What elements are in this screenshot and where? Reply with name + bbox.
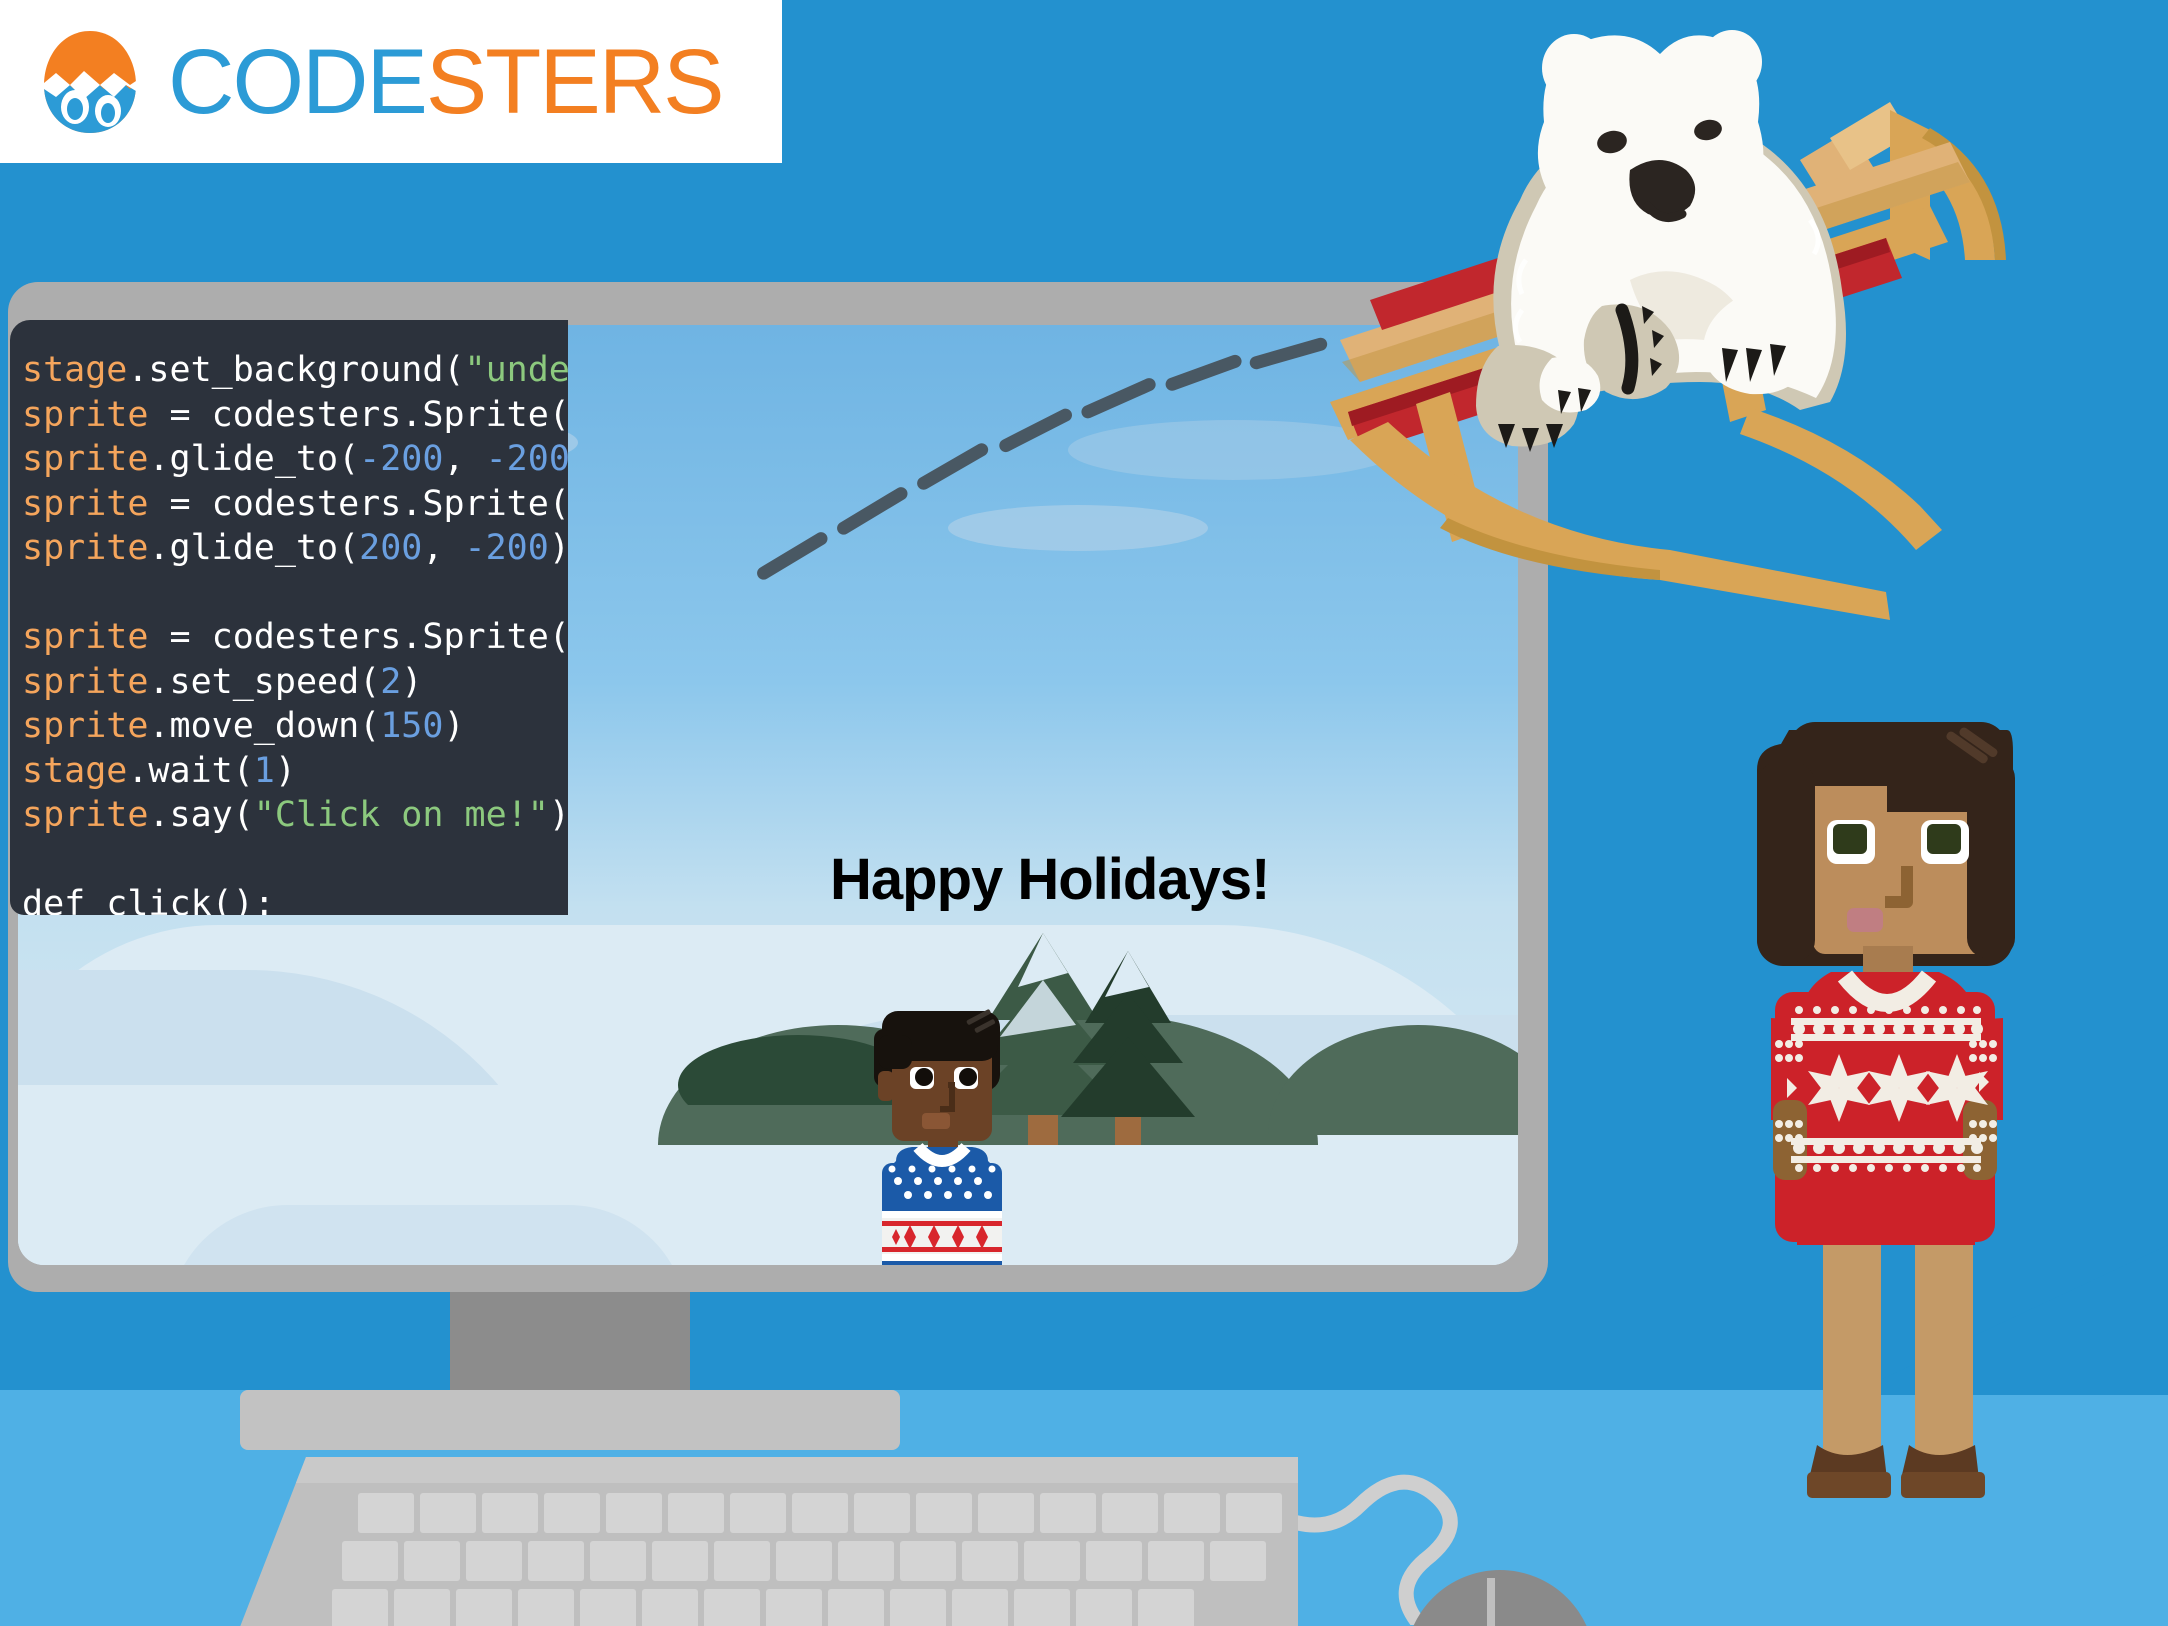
keyboard-key[interactable] bbox=[590, 1541, 646, 1581]
keyboard-key[interactable] bbox=[952, 1589, 1008, 1626]
keyboard-key[interactable] bbox=[342, 1541, 398, 1581]
keyboard-key[interactable] bbox=[652, 1541, 708, 1581]
keyboard-key[interactable] bbox=[358, 1493, 414, 1533]
keyboard-key[interactable] bbox=[668, 1493, 724, 1533]
keyboard-key[interactable] bbox=[1014, 1589, 1070, 1626]
code-line: sprite = codesters.Sprite("fis bbox=[22, 615, 568, 660]
keyboard-key[interactable] bbox=[1024, 1541, 1080, 1581]
keyboard-key[interactable] bbox=[838, 1541, 894, 1581]
keyboard-key[interactable] bbox=[730, 1493, 786, 1533]
keyboard-key[interactable] bbox=[1040, 1493, 1096, 1533]
keyboard-key[interactable] bbox=[518, 1589, 574, 1626]
keyboard-key[interactable] bbox=[580, 1589, 636, 1626]
keyboard-key[interactable] bbox=[404, 1541, 460, 1581]
poster-canvas: Happy Holidays! Watch out for flying pol… bbox=[0, 0, 2168, 1626]
code-line: def click(): bbox=[22, 882, 568, 915]
keyboard-key[interactable] bbox=[1226, 1493, 1282, 1533]
keyboard-key[interactable] bbox=[776, 1541, 832, 1581]
cloud bbox=[948, 505, 1208, 551]
mouse-button-divider bbox=[1487, 1578, 1495, 1626]
pine-tree bbox=[1053, 945, 1203, 1145]
snow-mound bbox=[168, 1205, 688, 1265]
code-line: sprite.glide_to(-200, -200) bbox=[22, 437, 568, 482]
keyboard-key[interactable] bbox=[528, 1541, 584, 1581]
code-line-blank bbox=[22, 838, 568, 883]
keyboard-key[interactable] bbox=[466, 1541, 522, 1581]
codesters-egg-logo-icon bbox=[30, 27, 150, 137]
keyboard-key[interactable] bbox=[962, 1541, 1018, 1581]
keyboard-key[interactable] bbox=[854, 1493, 910, 1533]
code-line: sprite.set_speed(2) bbox=[22, 660, 568, 705]
code-editor[interactable]: stage.set_background("underwat sprite = … bbox=[10, 320, 568, 915]
keyboard-key[interactable] bbox=[900, 1541, 956, 1581]
girl-in-red-sweater bbox=[1735, 700, 2035, 1550]
logo-text-sters: STERS bbox=[426, 31, 723, 133]
polar-bear-on-sled bbox=[1330, 10, 2168, 710]
keyboard[interactable] bbox=[238, 1457, 1298, 1626]
keyboard-key[interactable] bbox=[394, 1589, 450, 1626]
keyboard-key[interactable] bbox=[1076, 1589, 1132, 1626]
code-line: sprite = codesters.Sprite("soc bbox=[22, 482, 568, 527]
keyboard-key[interactable] bbox=[1086, 1541, 1142, 1581]
keyboard-key[interactable] bbox=[714, 1541, 770, 1581]
keyboard-top-edge bbox=[238, 1457, 1298, 1483]
keyboard-key[interactable] bbox=[482, 1493, 538, 1533]
keyboard-key[interactable] bbox=[1164, 1493, 1220, 1533]
keyboard-key[interactable] bbox=[792, 1493, 848, 1533]
code-line: sprite.say("Click on me!") bbox=[22, 793, 568, 838]
code-line: stage.wait(1) bbox=[22, 749, 568, 794]
keyboard-key[interactable] bbox=[1210, 1541, 1266, 1581]
keyboard-key[interactable] bbox=[332, 1589, 388, 1626]
keyboard-key[interactable] bbox=[1148, 1541, 1204, 1581]
logo-banner: CODESTERS bbox=[0, 0, 782, 163]
keyboard-key[interactable] bbox=[766, 1589, 822, 1626]
keyboard-key[interactable] bbox=[1138, 1589, 1194, 1626]
code-line: stage.set_background("underwat bbox=[22, 348, 568, 393]
keyboard-key[interactable] bbox=[420, 1493, 476, 1533]
boy-in-blue-sweater bbox=[856, 985, 1026, 1265]
keyboard-key[interactable] bbox=[544, 1493, 600, 1533]
polar-bear bbox=[1476, 30, 1846, 452]
keyboard-key[interactable] bbox=[890, 1589, 946, 1626]
logo-text-code: CODE bbox=[168, 31, 426, 133]
keyboard-key[interactable] bbox=[704, 1589, 760, 1626]
code-line: sprite = codesters.Sprite("app bbox=[22, 393, 568, 438]
keyboard-key[interactable] bbox=[916, 1493, 972, 1533]
logo-wordmark: CODESTERS bbox=[168, 36, 723, 128]
keyboard-key[interactable] bbox=[828, 1589, 884, 1626]
code-line-blank bbox=[22, 571, 568, 616]
keyboard-key[interactable] bbox=[1102, 1493, 1158, 1533]
keyboard-key[interactable] bbox=[978, 1493, 1034, 1533]
greeting-text: Happy Holidays! bbox=[830, 850, 1269, 911]
monitor-base bbox=[240, 1390, 900, 1450]
code-line: sprite.move_down(150) bbox=[22, 704, 568, 749]
keyboard-key[interactable] bbox=[606, 1493, 662, 1533]
keyboard-key[interactable] bbox=[456, 1589, 512, 1626]
code-line: sprite.glide_to(200, -200) bbox=[22, 526, 568, 571]
keyboard-key[interactable] bbox=[642, 1589, 698, 1626]
